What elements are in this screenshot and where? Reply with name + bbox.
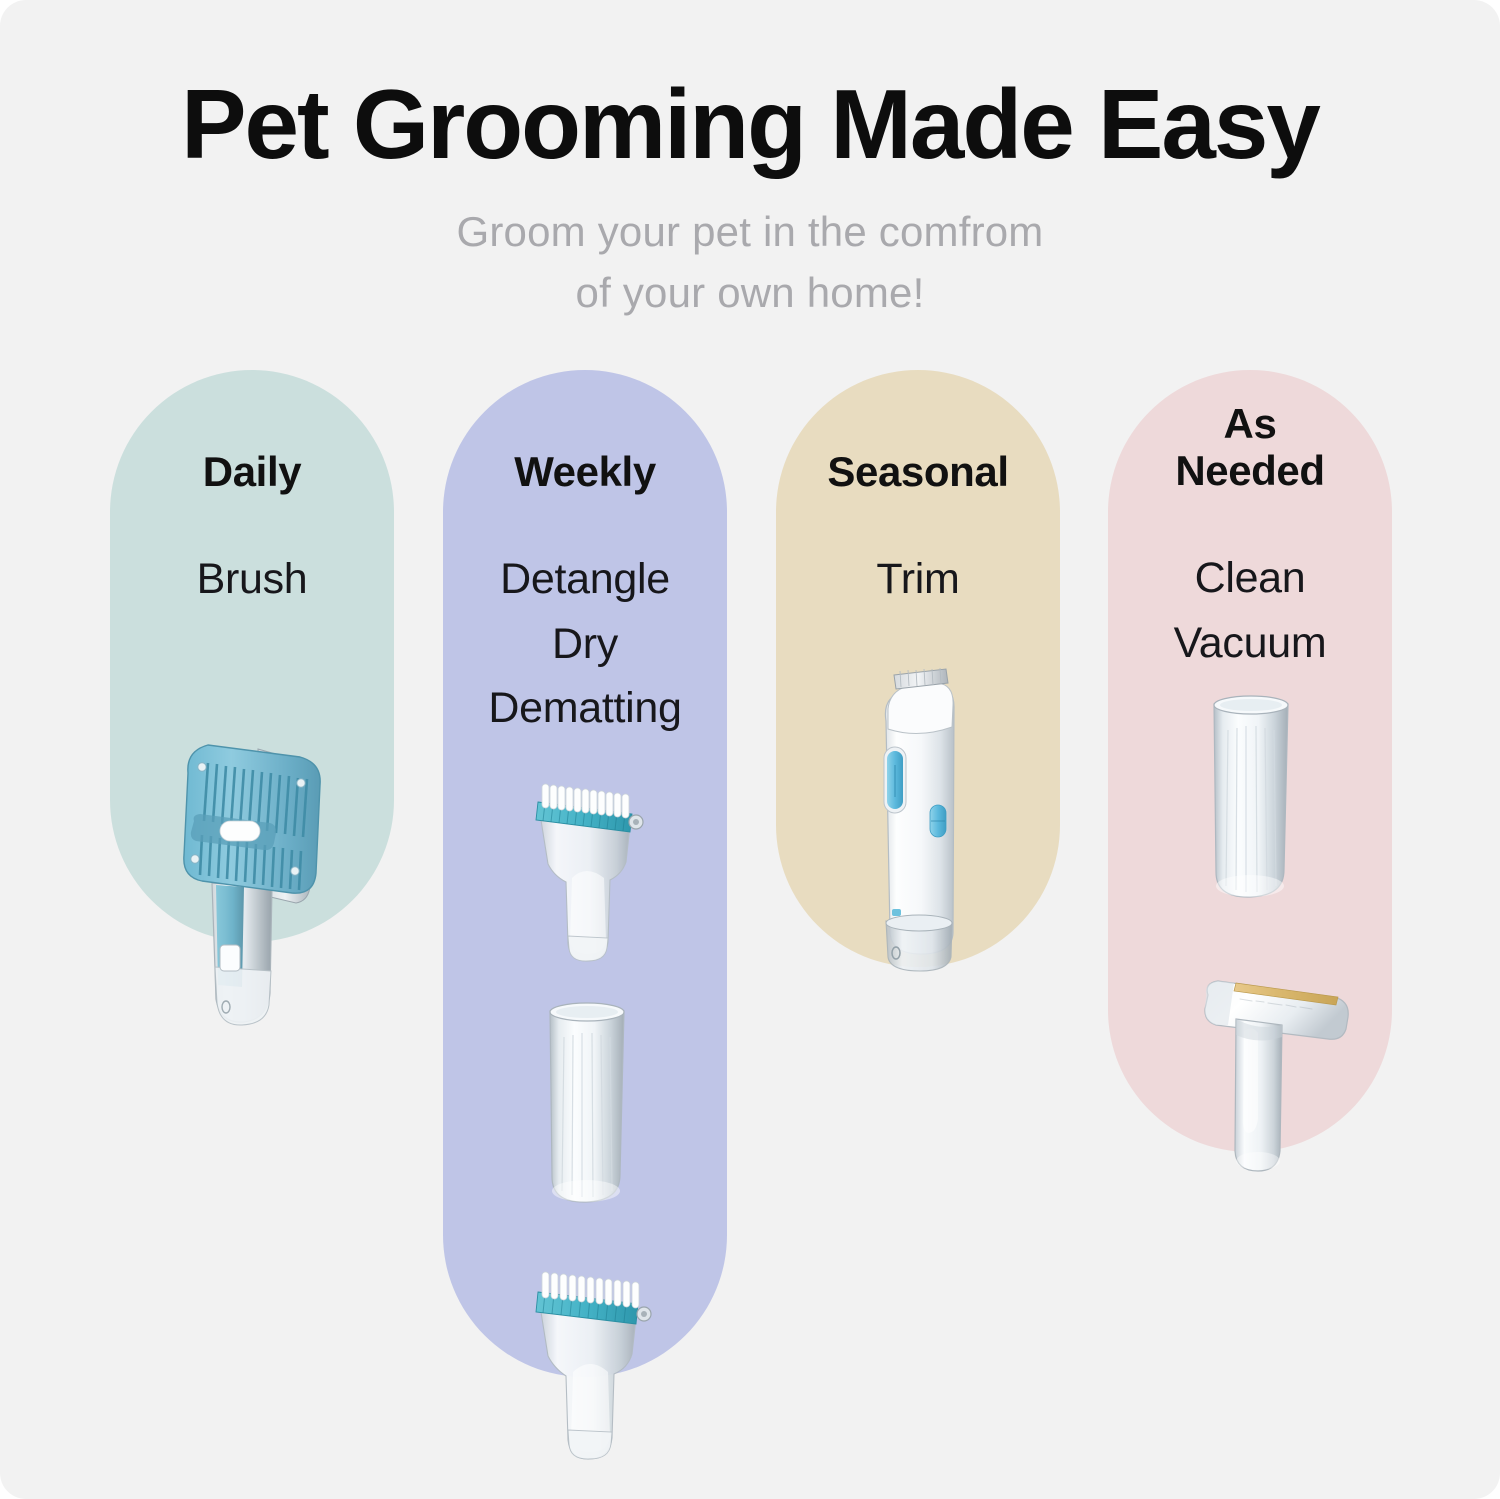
column-items-as-needed: Clean Vacuum	[1108, 546, 1392, 675]
column-title-weekly: Weekly	[443, 448, 727, 495]
column-items-weekly: Detangle Dry Dematting	[443, 547, 727, 741]
column-text-as-needed: As Needed Clean Vacuum	[1108, 370, 1392, 675]
column-item: Dry	[443, 612, 727, 677]
column-text-daily: Daily Brush	[110, 370, 394, 612]
column-text-seasonal: Seasonal Trim	[776, 370, 1060, 612]
infographic-canvas: Pet Grooming Made Easy Groom your pet in…	[0, 0, 1500, 1499]
column-title-as-needed-line-1: As	[1108, 400, 1392, 447]
column-item: Vacuum	[1108, 611, 1392, 676]
column-item: Trim	[776, 547, 1060, 612]
column-item: Detangle	[443, 547, 727, 612]
grooming-schedule-columns: Daily Brush Weekly Detangle Dry Demattin…	[0, 0, 1500, 1499]
column-title-seasonal: Seasonal	[776, 448, 1060, 495]
column-text-weekly: Weekly Detangle Dry Dematting	[443, 370, 727, 741]
column-items-seasonal: Trim	[776, 547, 1060, 612]
column-title-as-needed-line-2: Needed	[1108, 447, 1392, 494]
column-item: Clean	[1108, 546, 1392, 611]
column-item: Dematting	[443, 676, 727, 741]
column-item: Brush	[110, 547, 394, 612]
column-title-daily: Daily	[110, 448, 394, 495]
column-items-daily: Brush	[110, 547, 394, 612]
